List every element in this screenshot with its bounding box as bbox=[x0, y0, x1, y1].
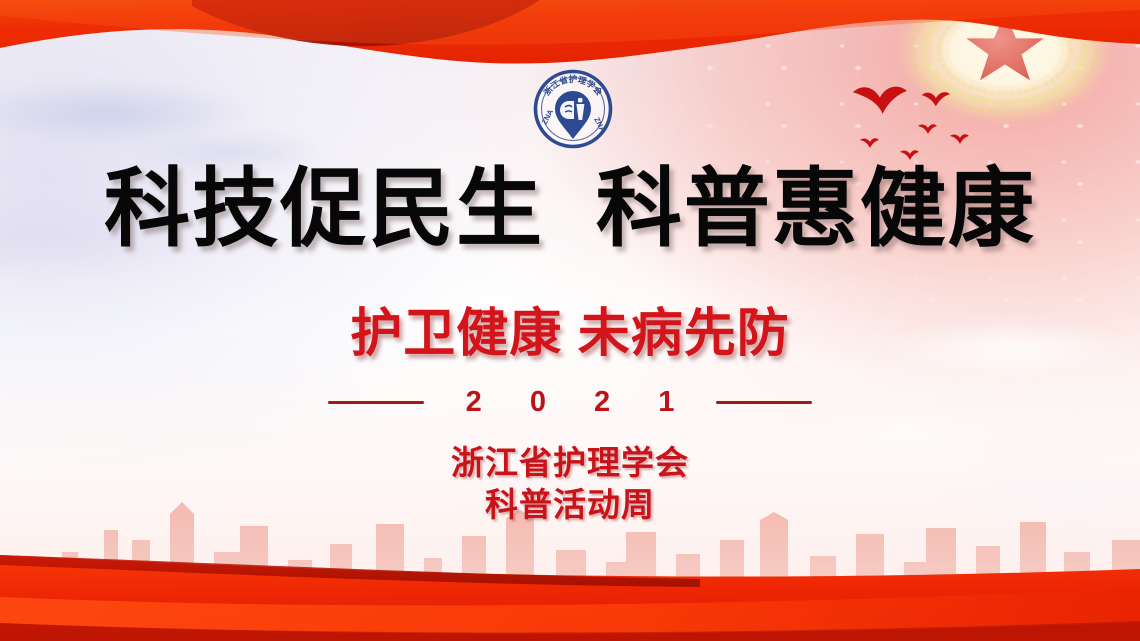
sub-title: 护卫健康 未病先防 bbox=[0, 308, 1140, 360]
year-rule-right bbox=[716, 401, 812, 404]
year-label: 2 0 2 1 bbox=[446, 386, 695, 419]
main-title: 科技促民生 科普惠健康 bbox=[0, 166, 1140, 252]
organization-block: 浙江省护理学会 科普活动周 bbox=[0, 443, 1140, 527]
poster-text-content: 科技促民生 科普惠健康 护卫健康 未病先防 2 0 2 1 浙江省护理学会 科普… bbox=[0, 0, 1140, 641]
organization-line-2: 科普活动周 bbox=[0, 485, 1140, 527]
year-rule-left bbox=[328, 401, 424, 404]
year-row: 2 0 2 1 bbox=[0, 386, 1140, 419]
poster-canvas: 浙江省护理学会 ZNA ZNA 科技促民生 科普惠健康 护卫健康 未病先防 2 … bbox=[0, 0, 1140, 641]
organization-line-1: 浙江省护理学会 bbox=[0, 443, 1140, 485]
